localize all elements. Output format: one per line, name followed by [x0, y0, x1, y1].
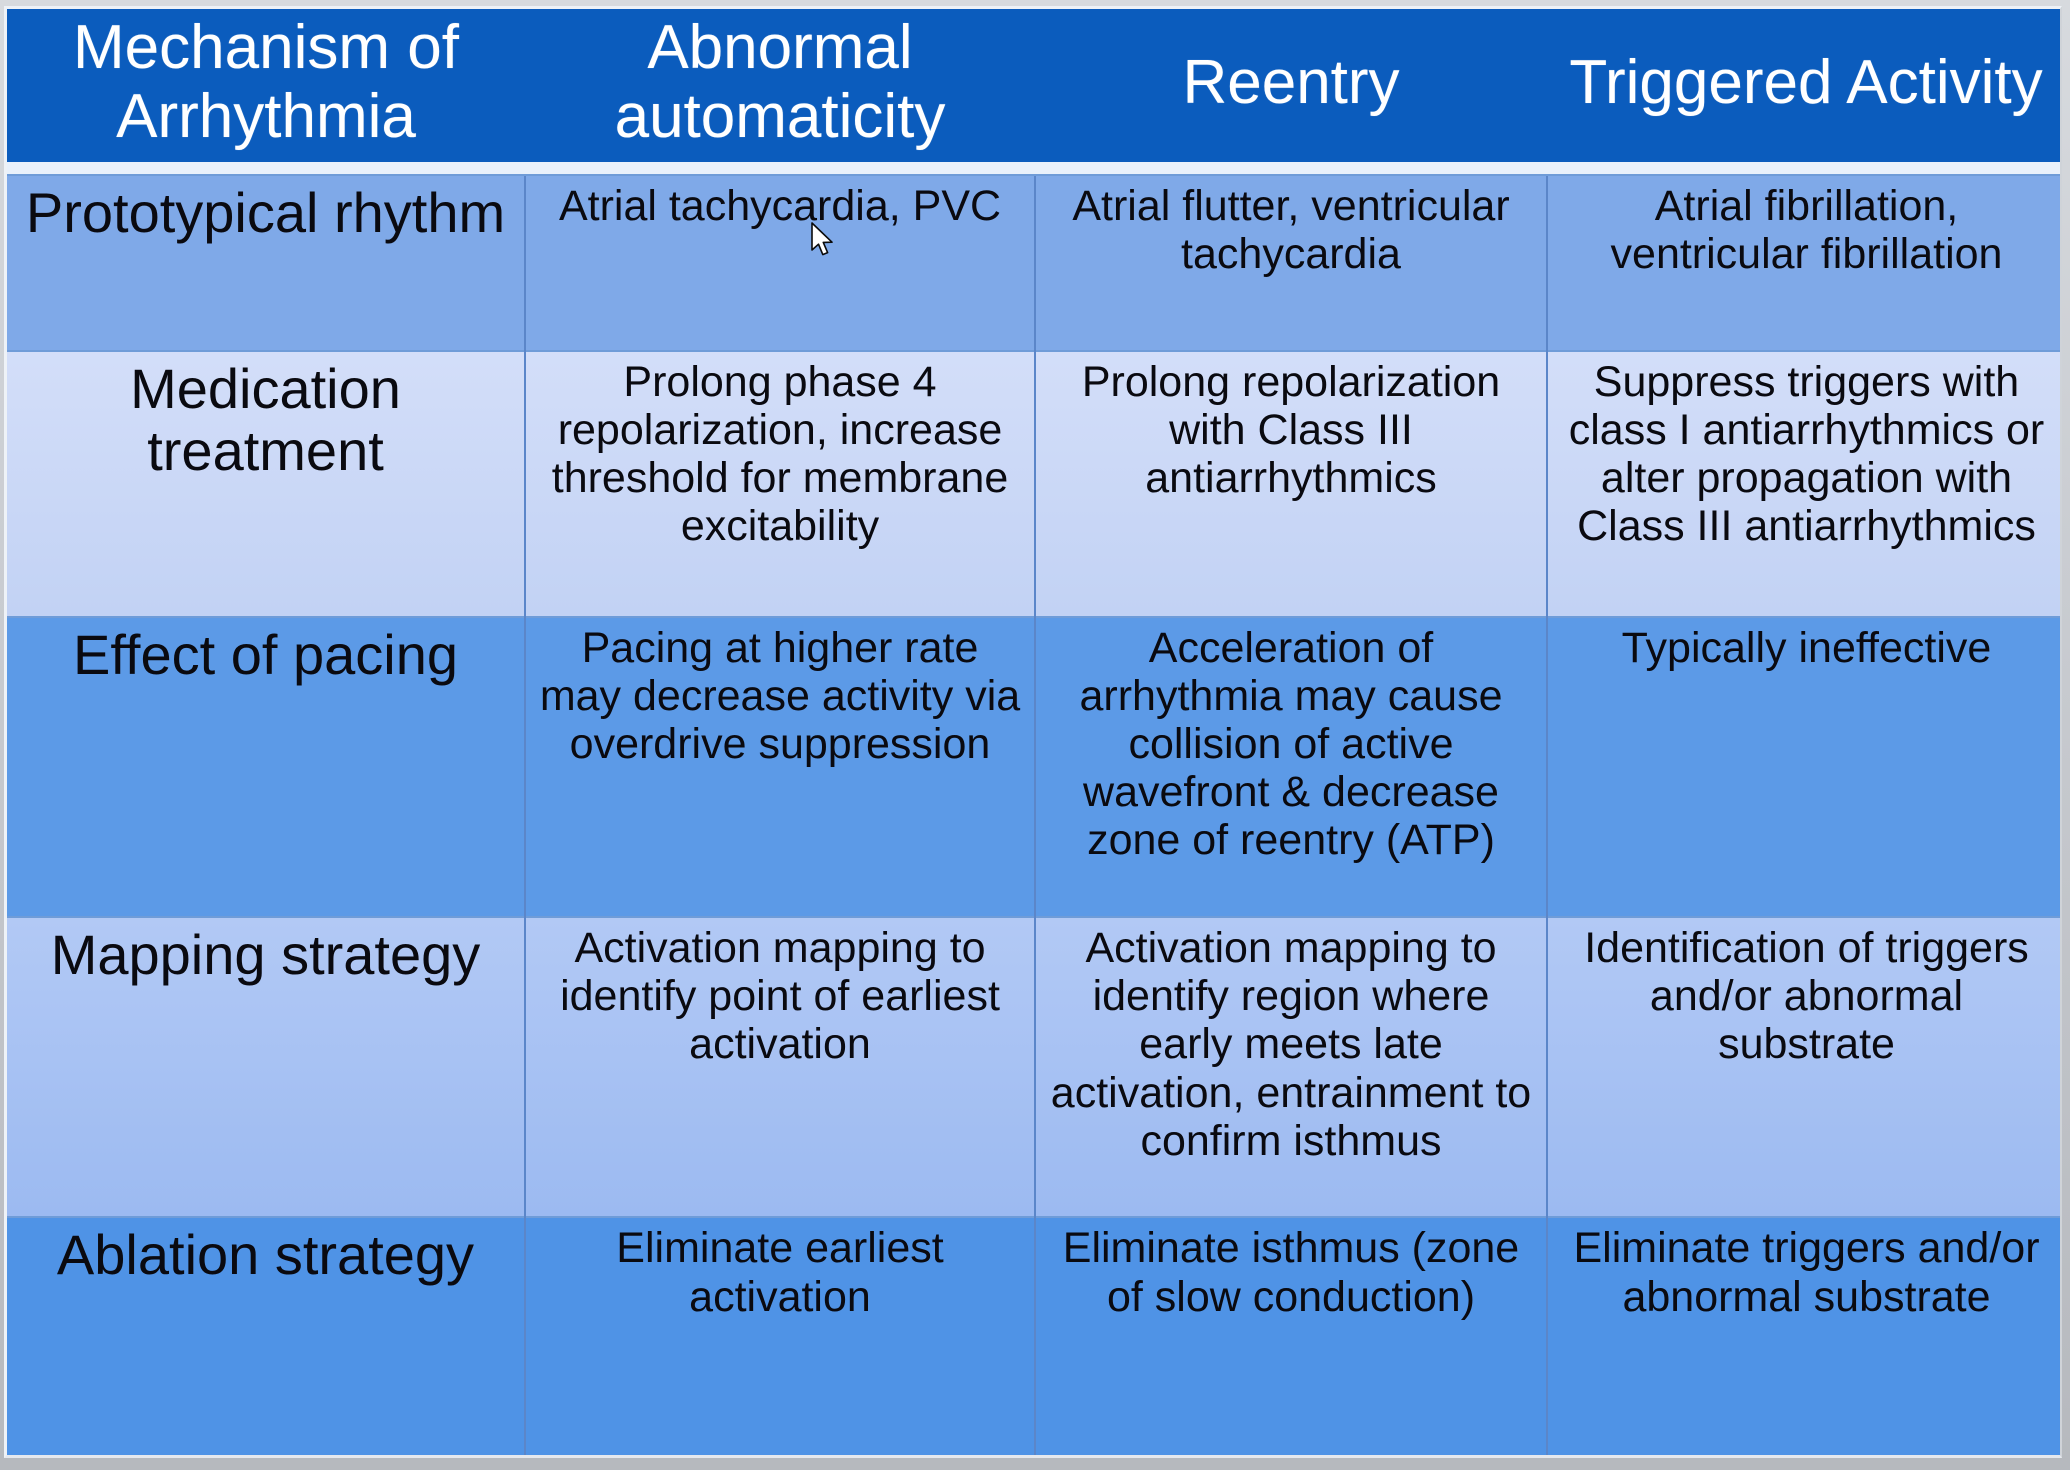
cell-ablation-strategy-abnormal-automaticity: Eliminate earliest activation: [525, 1217, 1035, 1455]
table-row: Prototypical rhythm Atrial tachycardia, …: [7, 175, 2062, 351]
cell-medication-treatment-reentry: Prolong repolarization with Class III an…: [1035, 351, 1547, 617]
row-label-mapping-strategy: Mapping strategy: [7, 917, 525, 1217]
column-header-abnormal-automaticity: Abnormal automaticity: [525, 9, 1035, 162]
table-header-row: Mechanism of Arrhythmia Abnormal automat…: [7, 9, 2062, 162]
column-header-mechanism: Mechanism of Arrhythmia: [7, 9, 525, 162]
cell-effect-of-pacing-triggered-activity: Typically ineffective: [1547, 617, 2062, 917]
table-row: Ablation strategy Eliminate earliest act…: [7, 1217, 2062, 1455]
cell-effect-of-pacing-abnormal-automaticity: Pacing at higher rate may decrease activ…: [525, 617, 1035, 917]
cell-medication-treatment-triggered-activity: Suppress triggers with class I antiarrhy…: [1547, 351, 2062, 617]
table-row: Medication treatment Prolong phase 4 rep…: [7, 351, 2062, 617]
cell-prototypical-rhythm-abnormal-automaticity: Atrial tachycardia, PVC: [525, 175, 1035, 351]
cell-mapping-strategy-triggered-activity: Identification of triggers and/or abnorm…: [1547, 917, 2062, 1217]
comparison-table-container: Mechanism of Arrhythmia Abnormal automat…: [4, 6, 2062, 1458]
cell-ablation-strategy-triggered-activity: Eliminate triggers and/or abnormal subst…: [1547, 1217, 2062, 1455]
cell-ablation-strategy-reentry: Eliminate isthmus (zone of slow conducti…: [1035, 1217, 1547, 1455]
row-label-medication-treatment: Medication treatment: [7, 351, 525, 617]
cell-prototypical-rhythm-triggered-activity: Atrial fibrillation, ventricular fibrill…: [1547, 175, 2062, 351]
cell-mapping-strategy-reentry: Activation mapping to identify region wh…: [1035, 917, 1547, 1217]
table-row: Mapping strategy Activation mapping to i…: [7, 917, 2062, 1217]
row-label-prototypical-rhythm: Prototypical rhythm: [7, 175, 525, 351]
cell-effect-of-pacing-reentry: Acceleration of arrhythmia may cause col…: [1035, 617, 1547, 917]
slide-canvas: Mechanism of Arrhythmia Abnormal automat…: [0, 0, 2070, 1470]
row-label-ablation-strategy: Ablation strategy: [7, 1217, 525, 1455]
column-header-triggered-activity: Triggered Activity: [1547, 9, 2062, 162]
cell-mapping-strategy-abnormal-automaticity: Activation mapping to identify point of …: [525, 917, 1035, 1217]
column-header-reentry: Reentry: [1035, 9, 1547, 162]
arrhythmia-mechanism-table: Mechanism of Arrhythmia Abnormal automat…: [7, 9, 2062, 1455]
table-row: Effect of pacing Pacing at higher rate m…: [7, 617, 2062, 917]
row-label-effect-of-pacing: Effect of pacing: [7, 617, 525, 917]
cell-prototypical-rhythm-reentry: Atrial flutter, ventricular tachycardia: [1035, 175, 1547, 351]
cell-medication-treatment-abnormal-automaticity: Prolong phase 4 repolarization, increase…: [525, 351, 1035, 617]
header-separator-bar: [7, 162, 2062, 175]
header-separator: [7, 162, 2062, 175]
